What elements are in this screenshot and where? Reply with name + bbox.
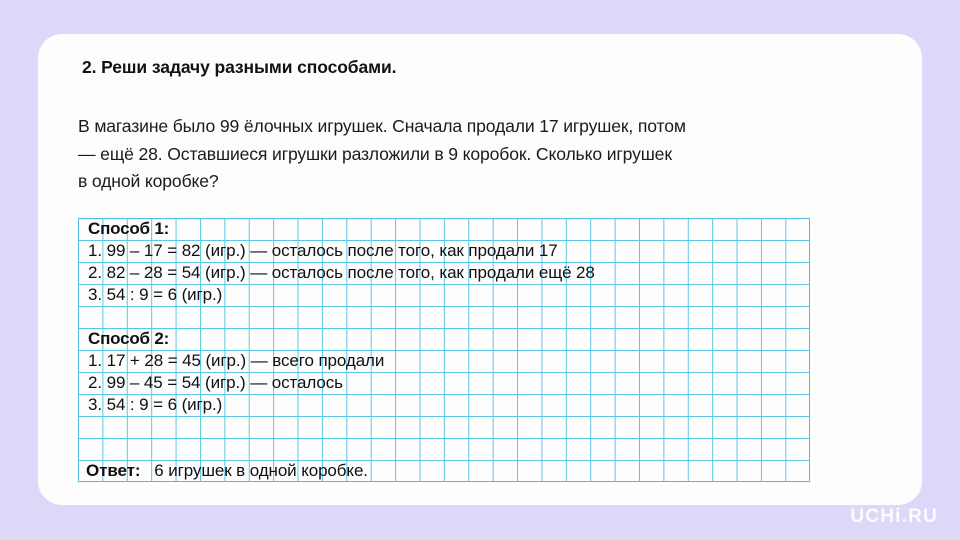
page-title: 2. Реши задачу разными способами.: [82, 57, 396, 78]
method-1-heading: Способ 1:: [88, 218, 169, 240]
lesson-card: 2. Реши задачу разными способами. В мага…: [38, 34, 922, 505]
page-background: 2. Реши задачу разными способами. В мага…: [0, 0, 960, 540]
answer-value: 6 игрушек в одной коробке.: [154, 461, 368, 480]
answer-label: Ответ:: [86, 461, 140, 480]
method-1-step-3: 3. 54 : 9 = 6 (игр.): [88, 284, 222, 306]
task-statement-line: В магазине было 99 ёлочных игрушек. Снач…: [78, 113, 878, 141]
method-2-step-1: 1. 17 + 28 = 45 (игр.) — всего продали: [88, 350, 384, 372]
task-statement-line: — ещё 28. Оставшиеся игрушки разложили в…: [78, 141, 878, 169]
answer-line: Ответ: 6 игрушек в одной коробке.: [86, 460, 368, 482]
task-statement-line: в одной коробке?: [78, 168, 878, 196]
method-2-step-3: 3. 54 : 9 = 6 (игр.): [88, 394, 222, 416]
notebook-grid: Способ 1: 1. 99 – 17 = 82 (игр.) — остал…: [78, 218, 810, 482]
solution-text: Способ 1: 1. 99 – 17 = 82 (игр.) — остал…: [78, 218, 810, 482]
task-statement: В магазине было 99 ёлочных игрушек. Снач…: [78, 113, 878, 196]
method-1-step-2: 2. 82 – 28 = 54 (игр.) — осталось после …: [88, 262, 595, 284]
method-2-step-2: 2. 99 – 45 = 54 (игр.) — осталось: [88, 372, 343, 394]
uchi-ru-logo: UCHi.RU: [850, 506, 938, 528]
method-2-heading: Способ 2:: [88, 328, 169, 350]
method-1-step-1: 1. 99 – 17 = 82 (игр.) — осталось после …: [88, 240, 558, 262]
